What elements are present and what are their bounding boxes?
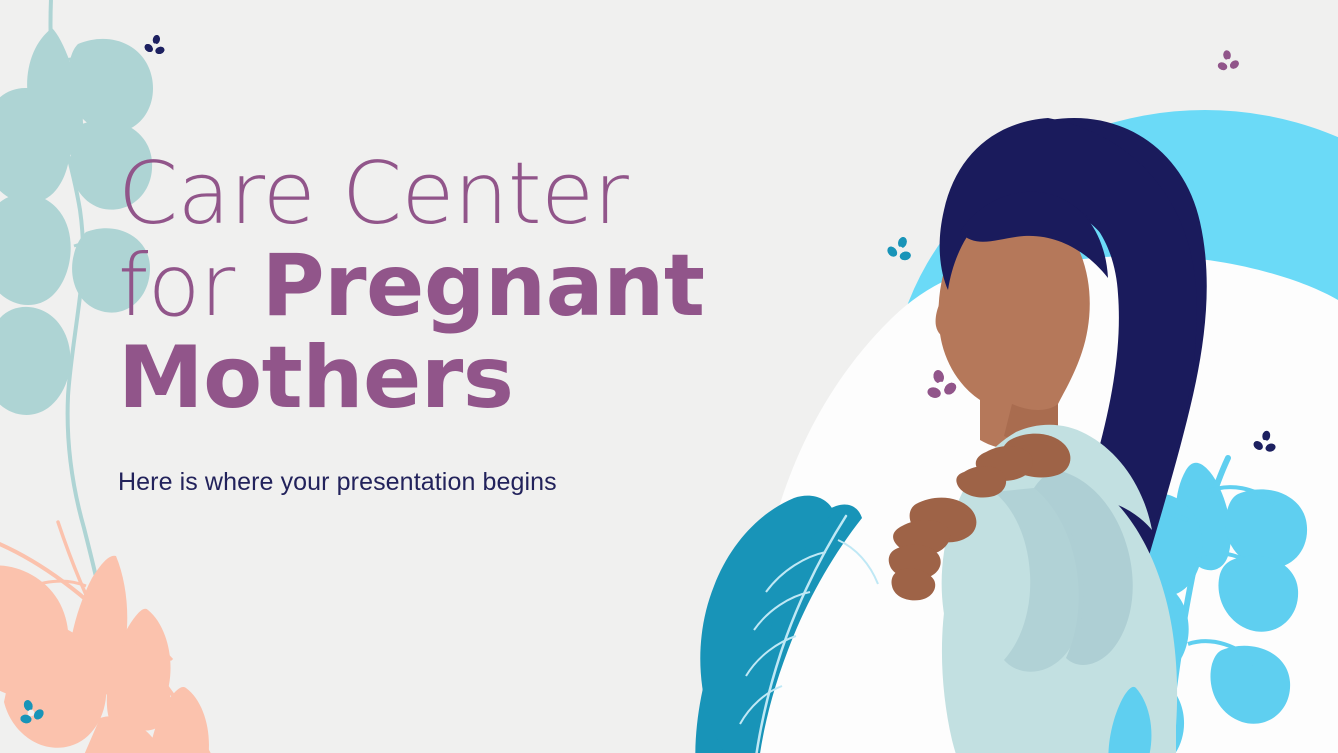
title-line-3-bold: Mothers bbox=[118, 328, 513, 428]
page-title: Care Center for Pregnant Mothers bbox=[118, 148, 818, 424]
slide-subtitle: Here is where your presentation begins bbox=[118, 424, 818, 497]
flower-teal-center-icon bbox=[884, 233, 917, 264]
slide-text-block: Care Center for Pregnant Mothers Here is… bbox=[118, 148, 818, 497]
light-blue-leaf-branch bbox=[1089, 458, 1307, 753]
peach-leaf-branch bbox=[0, 522, 212, 753]
small-blue-leaf bbox=[1108, 687, 1151, 753]
presentation-slide: Care Center for Pregnant Mothers Here is… bbox=[0, 0, 1338, 753]
flower-purple-top-right-icon bbox=[1214, 49, 1241, 73]
flower-navy-right-icon bbox=[1251, 429, 1280, 455]
title-line-1: Care Center bbox=[118, 144, 628, 244]
teal-leaf bbox=[695, 496, 878, 753]
title-line-2-light: for bbox=[118, 236, 262, 336]
woman-dress bbox=[942, 425, 1177, 753]
title-line-2-bold: Pregnant bbox=[262, 236, 705, 336]
woman-face bbox=[936, 201, 1090, 450]
blue-circle bbox=[890, 110, 1338, 690]
flower-teal-bottom-left-icon bbox=[14, 696, 48, 728]
woman-body-white bbox=[754, 256, 1338, 753]
woman-hands bbox=[889, 434, 1071, 601]
flower-navy-top-left-icon bbox=[142, 33, 169, 57]
woman-hair-back bbox=[966, 118, 1207, 744]
flower-purple-center-icon bbox=[921, 366, 960, 402]
woman-hair-front bbox=[940, 118, 1197, 748]
